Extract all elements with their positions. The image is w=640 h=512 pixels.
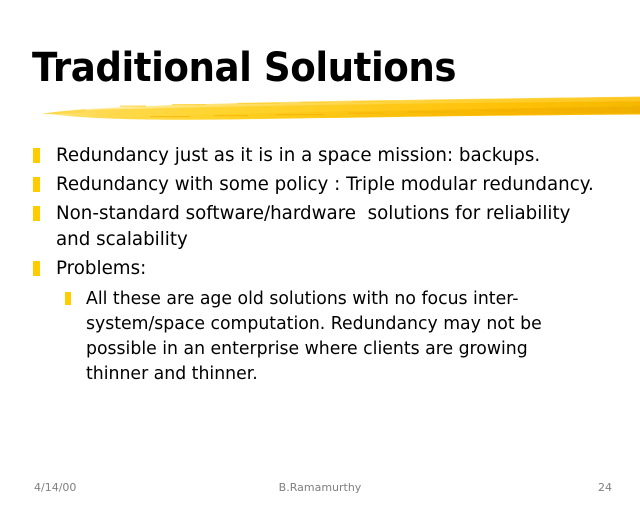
list-item: Problems:	[0, 255, 640, 281]
bullet-marker-icon	[33, 261, 40, 276]
brush-stroke-divider	[0, 88, 640, 132]
bullet-marker-icon	[33, 177, 40, 192]
sub-bullet-marker-icon	[65, 292, 71, 305]
sub-list-item: All these are age old solutions with no …	[0, 286, 640, 386]
bullet-marker-icon	[33, 148, 40, 163]
list-item-label: Redundancy just as it is in a space miss…	[56, 142, 601, 168]
list-item-label: Non-standard software/hardware solutions…	[56, 200, 601, 252]
list-item-label: Problems:	[56, 255, 601, 281]
slide-footer: 4/14/00 B.Ramamurthy 24	[0, 480, 640, 496]
page-title: Traditional Solutions	[32, 46, 456, 90]
list-item: Redundancy with some policy : Triple mod…	[0, 171, 640, 197]
presentation-slide: Traditional Solutions	[0, 0, 640, 512]
bullet-list: Redundancy just as it is in a space miss…	[0, 142, 640, 386]
list-item-label: Redundancy with some policy : Triple mod…	[56, 171, 601, 197]
list-item: Non-standard software/hardware solutions…	[0, 200, 640, 252]
brush-stroke-icon	[0, 88, 640, 132]
footer-author: B.Ramamurthy	[0, 480, 640, 496]
footer-page-number: 24	[598, 480, 612, 496]
list-item: Redundancy just as it is in a space miss…	[0, 142, 640, 168]
bullet-marker-icon	[33, 206, 40, 221]
sub-list-item-label: All these are age old solutions with no …	[86, 286, 566, 386]
